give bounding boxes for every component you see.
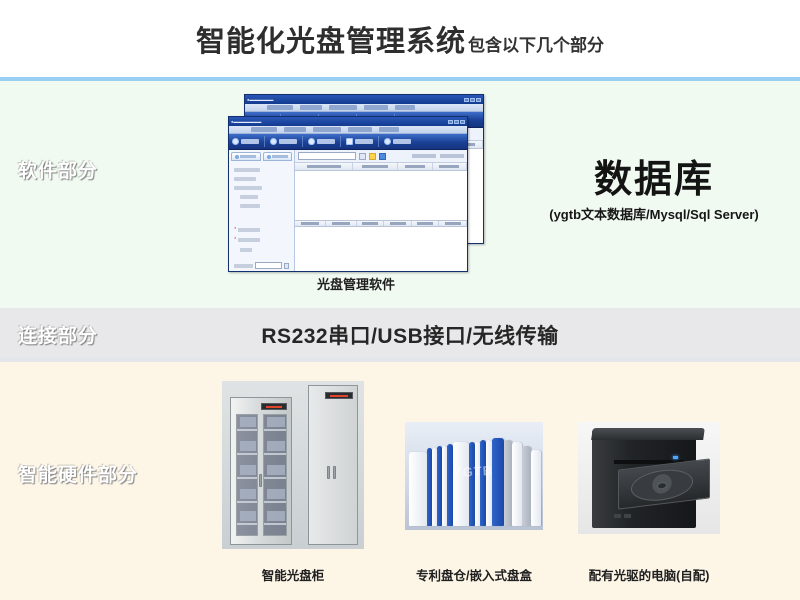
database-subtitle: (ygtb文本数据库/Mysql/Sql Server) (512, 204, 796, 223)
toolbar-button[interactable] (270, 138, 297, 145)
section-label-software: 软件部分 (18, 156, 98, 183)
page-title-main: 智能化光盘管理系统 (196, 18, 466, 60)
toolbar-button-label (355, 139, 373, 144)
menu-item[interactable] (379, 127, 399, 132)
folder-icon (235, 155, 239, 159)
pc-top-panel (591, 428, 705, 440)
toolbar-separator (302, 136, 303, 147)
window-menubar-front[interactable] (229, 126, 467, 134)
app-window-front[interactable]: ●▬▬▬▬▬▬▬ (228, 116, 468, 272)
sidebar-tree-front[interactable] (229, 164, 294, 212)
pc-with-optical-drive-photo (578, 422, 720, 534)
action-link[interactable] (440, 154, 464, 158)
grid-column-label (445, 222, 461, 225)
disc-well (631, 466, 693, 504)
sidebar-tab[interactable] (263, 152, 293, 161)
required-field-row: * (234, 228, 289, 232)
required-asterisk-icon: * (234, 238, 236, 242)
cabinet-led-display (325, 392, 353, 399)
cabinet-glass-door (236, 414, 258, 536)
cabinet-left (230, 397, 292, 545)
search-input[interactable] (298, 152, 356, 160)
toolbar-button[interactable] (232, 138, 259, 145)
disc-cartridge (504, 440, 512, 526)
section-label-hardware: 智能硬件部分 (18, 460, 138, 487)
import-icon (232, 138, 239, 145)
window-title-text-back: ●▬▬▬▬▬▬ (247, 97, 273, 102)
sidebar-tab-label (240, 155, 256, 158)
window-titlebar-front[interactable]: ●▬▬▬▬▬▬▬ (229, 117, 467, 126)
toolbar-separator (264, 136, 265, 147)
grid-column-header[interactable] (295, 221, 326, 226)
grid-column-header[interactable] (353, 163, 398, 170)
grid-column-label (439, 165, 459, 168)
pc-power-led (673, 456, 678, 459)
window-menubar-back[interactable] (245, 104, 483, 112)
menu-item[interactable] (348, 127, 372, 132)
cabinet-right (308, 385, 358, 545)
spindle-icon (657, 482, 667, 490)
menu-item[interactable] (364, 105, 388, 110)
window-body-front: * * (229, 150, 467, 271)
gear-icon (346, 138, 353, 145)
toolbar-button-label (317, 139, 335, 144)
search-bar-front[interactable] (295, 150, 467, 163)
required-field-label (238, 238, 260, 242)
smart-disc-cabinet-photo (222, 381, 364, 549)
action-link[interactable] (412, 154, 436, 158)
toolbar-button[interactable] (384, 138, 411, 145)
page-title: 智能化光盘管理系统 包含以下几个部分 (196, 18, 604, 60)
disc-cartridge (453, 442, 469, 526)
hardware-caption-pc: 配有光驱的电脑(自配) (570, 565, 728, 584)
detail-grid-rows[interactable] (295, 227, 467, 271)
grid-column-label (405, 165, 425, 168)
window-controls-back[interactable] (464, 98, 481, 102)
toolbar-separator (378, 136, 379, 147)
database-title: 数据库 (512, 158, 796, 202)
grid-column-label (417, 222, 433, 225)
form-label (234, 264, 253, 268)
grid-rows-front[interactable] (295, 171, 467, 220)
close-icon[interactable] (460, 120, 465, 124)
cabinet-handle (333, 466, 336, 479)
section-label-connection: 连接部分 (18, 321, 98, 348)
hardware-caption-cabinet: 智能光盘柜 (222, 565, 364, 584)
toolbar-button-label (393, 139, 411, 144)
search-icon[interactable] (359, 153, 366, 160)
tree-item[interactable] (240, 204, 260, 208)
grid-column-header[interactable] (398, 163, 432, 170)
search-icon (384, 138, 391, 145)
disc-cartridge (522, 446, 531, 526)
toolbar-separator (340, 136, 341, 147)
window-titlebar-back: ●▬▬▬▬▬▬ (245, 95, 483, 104)
page-header: 智能化光盘管理系统 包含以下几个部分 (0, 0, 800, 78)
tree-item[interactable] (240, 195, 258, 199)
list-icon (267, 155, 271, 159)
menu-item[interactable] (284, 127, 306, 132)
grid-column-header[interactable] (326, 221, 357, 226)
grid-column-label (362, 165, 388, 168)
disc-cartridge-photo: YGTB (405, 422, 543, 530)
grid-column-header[interactable] (384, 221, 412, 226)
menu-item[interactable] (313, 127, 341, 132)
tree-item[interactable] (234, 168, 260, 172)
disc-icon (308, 138, 315, 145)
software-screenshot-caption: 光盘管理软件 (228, 274, 484, 293)
grid-column-label (332, 222, 350, 225)
sidebar-tab-label (272, 155, 288, 158)
window-toolbar-front[interactable] (229, 134, 467, 150)
grid-column-label (390, 222, 406, 225)
database-block: 数据库 (ygtb文本数据库/Mysql/Sql Server) (512, 158, 796, 223)
toolbar-button[interactable] (346, 138, 373, 145)
cabinet-handle (327, 466, 330, 479)
hardware-caption-cartridge: 专利盘仓/嵌入式盘盒 (398, 565, 550, 584)
grid-column-header[interactable] (412, 221, 440, 226)
software-screenshot-stack: ●▬▬▬▬▬▬ (228, 94, 484, 272)
required-field-list: * * (229, 224, 294, 256)
required-field-row: * (234, 238, 289, 242)
toolbar-button-label (241, 139, 259, 144)
grid-header-front (295, 163, 467, 171)
disc-cartridge (531, 450, 541, 526)
cabinet-glass-door (263, 414, 287, 536)
sidebar-tabs-front[interactable] (229, 150, 294, 164)
grid-column-header[interactable] (295, 163, 353, 170)
sidebar-front: * * (229, 150, 295, 271)
sidebar-form[interactable] (229, 262, 294, 272)
detail-grid-header (295, 220, 467, 227)
grid-column-label (362, 222, 378, 225)
required-asterisk-icon: * (234, 228, 236, 232)
grid-column-header[interactable] (357, 221, 385, 226)
minimize-icon[interactable] (448, 120, 453, 124)
close-icon[interactable] (476, 98, 481, 102)
menu-item[interactable] (267, 105, 293, 110)
grid-column-header[interactable] (439, 221, 467, 226)
filter-icon[interactable] (379, 153, 386, 160)
highlight-icon[interactable] (369, 153, 376, 160)
form-input[interactable] (255, 262, 282, 269)
grid-column-label (301, 222, 319, 225)
menu-item[interactable] (329, 105, 357, 110)
export-icon (270, 138, 277, 145)
menu-item[interactable] (300, 105, 322, 110)
pc-front-leds (614, 514, 631, 518)
toolbar-button-label (279, 139, 297, 144)
window-controls-front[interactable] (448, 120, 465, 124)
disc-cartridge (409, 452, 427, 526)
toolbar-button[interactable] (308, 138, 335, 145)
required-field-label (238, 228, 260, 232)
maximize-icon[interactable] (454, 120, 459, 124)
picker-button[interactable] (284, 263, 289, 269)
minimize-icon[interactable] (464, 98, 469, 102)
connection-methods-text: RS232串口/USB接口/无线传输 (200, 320, 620, 350)
page-title-sub: 包含以下几个部分 (468, 31, 604, 56)
menu-item[interactable] (395, 105, 415, 110)
menu-item[interactable] (251, 127, 277, 132)
grid-column-label (307, 165, 341, 168)
disc-cartridge (512, 442, 522, 526)
cabinet-handle (259, 474, 262, 487)
search-bar-actions[interactable] (412, 154, 464, 158)
required-field-row (234, 248, 289, 252)
maximize-icon[interactable] (470, 98, 475, 102)
required-field-label (240, 248, 252, 252)
form-row[interactable] (234, 262, 289, 269)
sidebar-tab[interactable] (231, 152, 261, 161)
tree-item[interactable] (234, 177, 256, 181)
tree-item[interactable] (234, 186, 262, 190)
cabinet-led-display (261, 403, 287, 410)
window-title-text-front: ●▬▬▬▬▬▬▬ (231, 119, 261, 124)
grid-column-header[interactable] (433, 163, 467, 170)
disc-cartridge (492, 438, 504, 526)
main-panel-front (295, 150, 467, 271)
